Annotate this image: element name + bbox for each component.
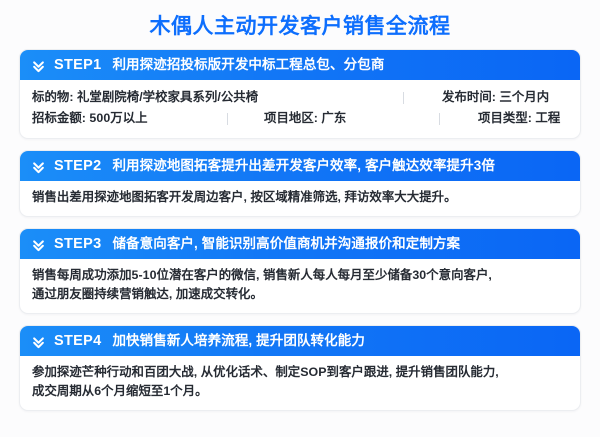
meta-row-1: 标的物: 礼堂剧院椅/学校家具系列/公共椅 发布时间: 三个月内: [32, 87, 568, 108]
chevron-double-down-icon: [31, 334, 46, 349]
step-body-line: 销售每周成功添加5-10位潜在客户的微信, 销售新人每人每月至少储备30个意向客…: [32, 266, 568, 285]
step-label-1: STEP1: [54, 58, 101, 73]
step-card-3: STEP3 储备意向客户, 智能识别高价值商机并沟通报价和定制方案 销售每周成功…: [19, 228, 581, 314]
step-title-2: 利用探迹地图拓客提升出差开发客户效率, 客户触达效率提升3倍: [112, 159, 495, 173]
step-header-4[interactable]: STEP4 加快销售新人培养流程, 提升团队转化能力: [20, 326, 580, 356]
meta-separator-ghost: [227, 92, 228, 104]
step-body-line: 参加探迹芒种行动和百团大战, 从优化话术、制定SOP到客户跟进, 提升销售团队能…: [32, 363, 568, 382]
step-body-line: 通过朋友圈持续营销触达, 加速成交转化。: [32, 285, 568, 304]
meta-project-type: 项目类型: 工程: [440, 112, 560, 124]
step-body-line: 销售出差用探迹地图拓客开发周边客户, 按区域精准筛选, 拜访效率大大提升。: [32, 188, 568, 207]
step-card-4: STEP4 加快销售新人培养流程, 提升团队转化能力 参加探迹芒种行动和百团大战…: [19, 325, 581, 411]
step-title-4: 加快销售新人培养流程, 提升团队转化能力: [112, 334, 365, 348]
meta-publish-time: 发布时间: 三个月内: [404, 91, 549, 103]
step-label-4: STEP4: [54, 334, 101, 349]
step-title-3: 储备意向客户, 智能识别高价值商机并沟通报价和定制方案: [112, 237, 460, 251]
step-body-1: 标的物: 礼堂剧院椅/学校家具系列/公共椅 发布时间: 三个月内 招标金额: 5…: [20, 80, 580, 138]
step-label-2: STEP2: [54, 159, 101, 174]
meta-row-2: 招标金额: 500万以上 项目地区: 广东 项目类型: 工程: [32, 108, 568, 129]
step-header-1[interactable]: STEP1 利用探迹招投标版开发中标工程总包、分包商: [20, 50, 580, 80]
step-label-3: STEP3: [54, 237, 101, 252]
page-title: 木偶人主动开发客户销售全流程: [19, 0, 581, 37]
chevron-double-down-icon: [31, 58, 46, 73]
step-body-2: 销售出差用探迹地图拓客开发周边客户, 按区域精准筛选, 拜访效率大大提升。: [20, 181, 580, 216]
step-card-1: STEP1 利用探迹招投标版开发中标工程总包、分包商 标的物: 礼堂剧院椅/学校…: [19, 49, 581, 139]
step-header-3[interactable]: STEP3 储备意向客户, 智能识别高价值商机并沟通报价和定制方案: [20, 229, 580, 259]
step-card-2: STEP2 利用探迹地图拓客提升出差开发客户效率, 客户触达效率提升3倍 销售出…: [19, 150, 581, 217]
step-title-1: 利用探迹招投标版开发中标工程总包、分包商: [112, 58, 384, 72]
step-body-4: 参加探迹芒种行动和百团大战, 从优化话术、制定SOP到客户跟进, 提升销售团队能…: [20, 356, 580, 410]
infographic-page: 木偶人主动开发客户销售全流程 STEP1 利用探迹招投标版开发中标工程总包、分包…: [0, 0, 600, 437]
chevron-double-down-icon: [31, 159, 46, 174]
meta-region: 项目地区: 广东: [228, 112, 439, 124]
meta-subject: 标的物: 礼堂剧院椅/学校家具系列/公共椅: [32, 91, 227, 103]
step-body-3: 销售每周成功添加5-10位潜在客户的微信, 销售新人每人每月至少储备30个意向客…: [20, 259, 580, 313]
meta-bid-amount: 招标金额: 500万以上: [32, 112, 227, 124]
chevron-double-down-icon: [31, 237, 46, 252]
step-header-2[interactable]: STEP2 利用探迹地图拓客提升出差开发客户效率, 客户触达效率提升3倍: [20, 151, 580, 181]
step-body-line: 成交周期从6个月缩短至1个月。: [32, 382, 568, 401]
